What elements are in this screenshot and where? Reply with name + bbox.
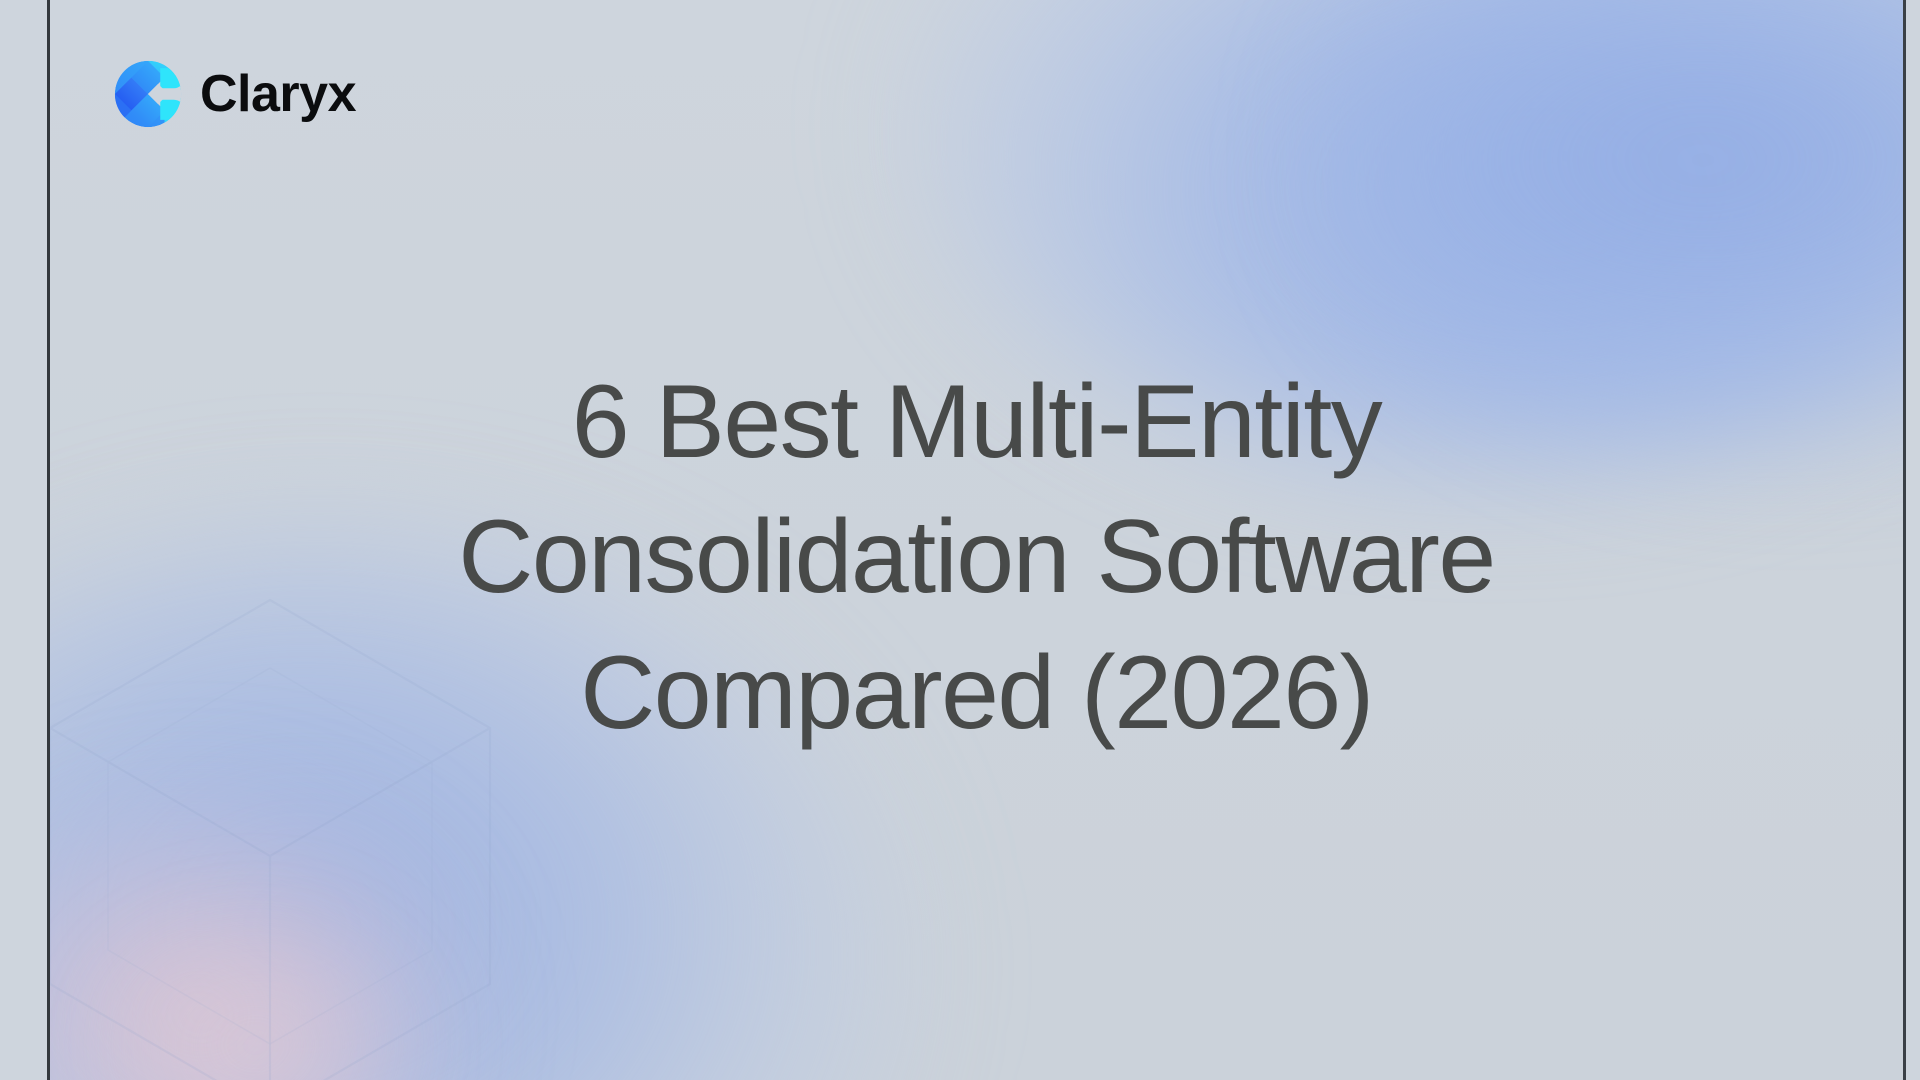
- slide-root: Claryx 6 Best Multi-Entity Consolidation…: [0, 0, 1920, 1080]
- slide-canvas: Claryx 6 Best Multi-Entity Consolidation…: [50, 0, 1903, 1080]
- left-edge-rule: [47, 0, 50, 1080]
- right-edge-rule: [1903, 0, 1906, 1080]
- brand-logo[interactable]: Claryx: [112, 58, 356, 130]
- right-gutter: [1906, 0, 1920, 1080]
- page-title: 6 Best Multi-Entity Consolidation Softwa…: [387, 355, 1567, 761]
- left-gutter: [0, 0, 47, 1080]
- brand-wordmark: Claryx: [200, 68, 356, 120]
- claryx-c-logomark-icon: [112, 58, 184, 130]
